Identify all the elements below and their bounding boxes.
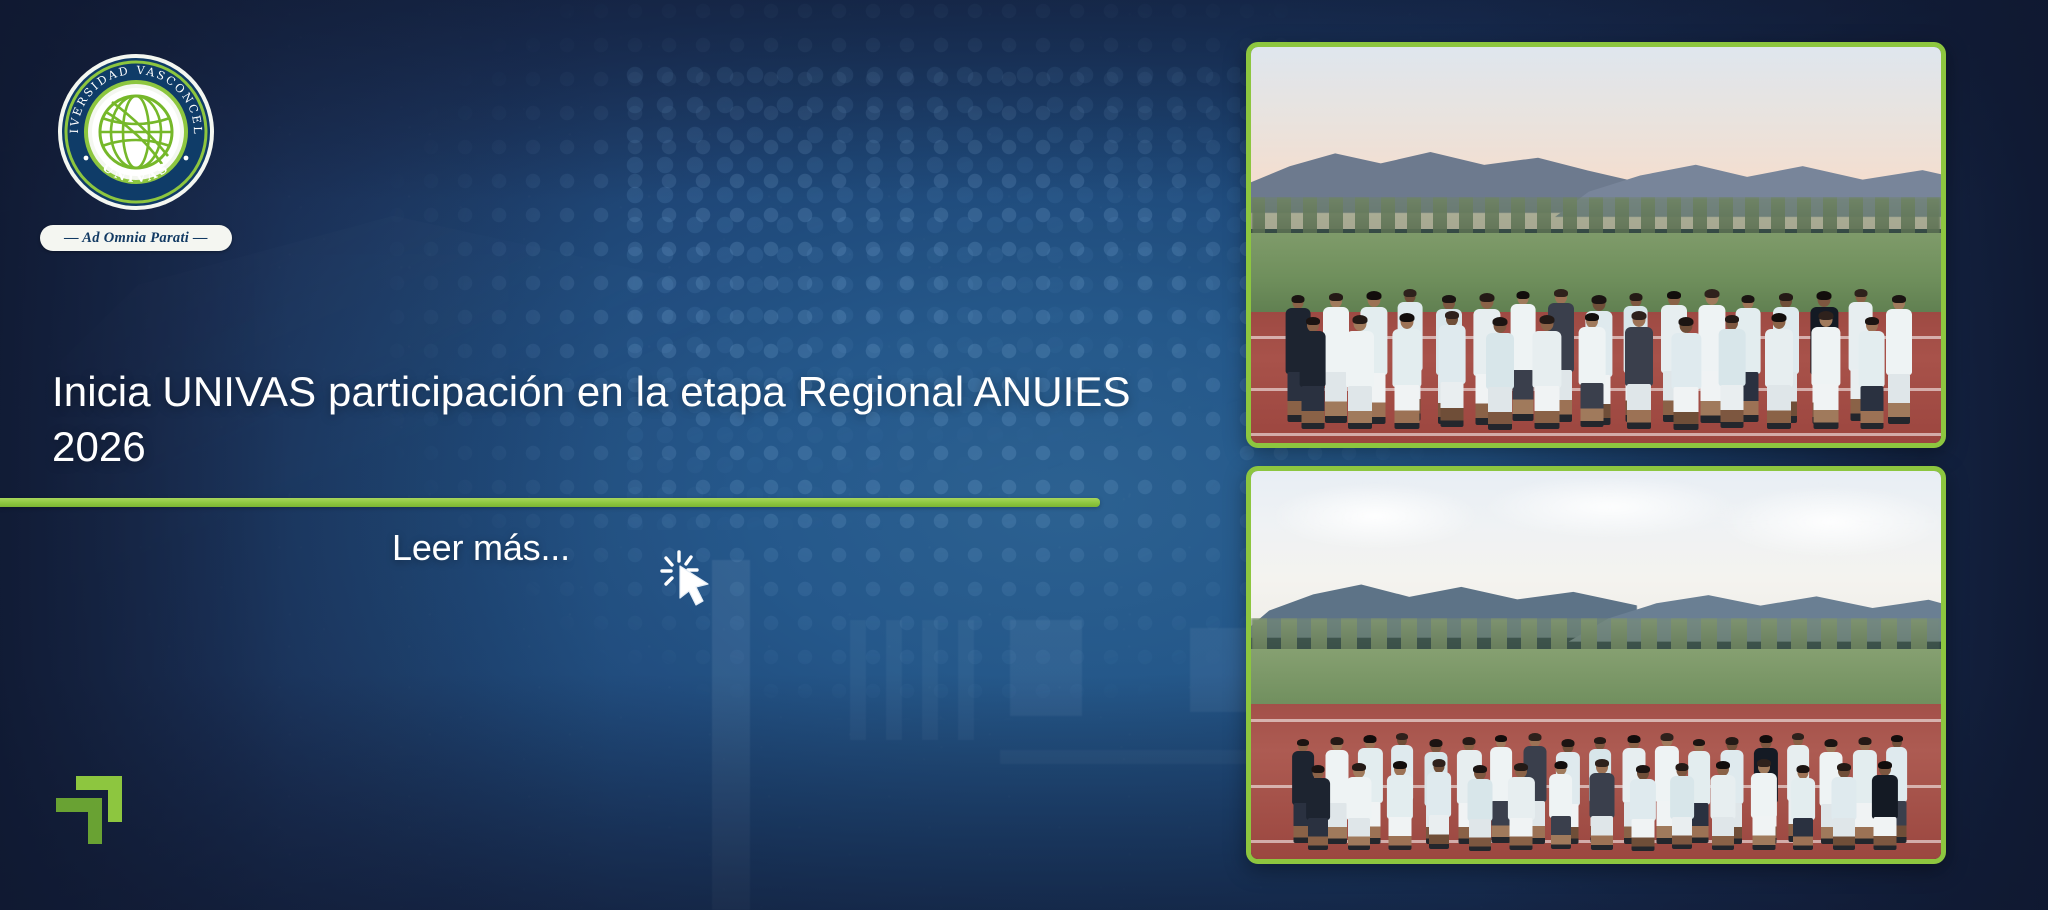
- person-hair: [1297, 739, 1309, 746]
- person-hair: [1329, 293, 1343, 301]
- person-hair: [1517, 291, 1530, 299]
- person-hair: [1797, 765, 1810, 773]
- person-torso: [1549, 774, 1573, 818]
- person-legs: [1814, 384, 1839, 429]
- team-photo-bottom[interactable]: [1246, 466, 1946, 864]
- person-silhouette: [1718, 316, 1745, 443]
- person-torso: [1672, 333, 1701, 389]
- person-legs: [1348, 386, 1372, 429]
- person-torso: [1670, 776, 1694, 819]
- hero-banner: UNIVERSIDAD VASCONCELOS UNIVAS — Ad Omni…: [0, 0, 2048, 910]
- person-hair: [1742, 295, 1755, 303]
- person-silhouette: [1791, 766, 1815, 859]
- person-hair: [1837, 763, 1851, 771]
- person-hair: [1352, 763, 1366, 771]
- logo-motto-ribbon: — Ad Omnia Parati —: [40, 225, 232, 251]
- person-hair: [1636, 765, 1650, 773]
- person-legs: [1874, 817, 1897, 850]
- person-hair: [1312, 765, 1325, 773]
- person-legs: [1581, 383, 1604, 427]
- person-torso: [1765, 329, 1793, 387]
- person-legs: [1752, 816, 1775, 850]
- person-torso: [1508, 777, 1534, 820]
- person-legs: [1534, 386, 1559, 429]
- person-silhouette: [1858, 318, 1885, 443]
- person-legs: [1888, 374, 1910, 424]
- person-legs: [1389, 817, 1412, 850]
- person-torso: [1630, 779, 1656, 821]
- person-hair: [1514, 763, 1528, 771]
- person-hair: [1760, 735, 1773, 743]
- person-hair: [1367, 291, 1382, 300]
- person-torso: [1306, 778, 1330, 820]
- person-legs: [1712, 817, 1734, 850]
- person-hair: [1479, 293, 1494, 302]
- person-hair: [1433, 759, 1446, 767]
- person-hair: [1661, 733, 1674, 741]
- person-torso: [1532, 331, 1561, 388]
- person-hair: [1396, 733, 1408, 740]
- person-silhouette: [1832, 764, 1857, 859]
- person-silhouette: [1630, 766, 1656, 859]
- person-torso: [1392, 329, 1421, 387]
- person-hair: [1585, 313, 1599, 321]
- team-photo-top[interactable]: [1246, 42, 1946, 448]
- person-silhouette: [1751, 760, 1777, 859]
- person-silhouette: [1346, 316, 1374, 443]
- person-hair: [1554, 761, 1567, 769]
- person-torso: [1718, 329, 1745, 386]
- click-cursor: [660, 548, 722, 610]
- person-hair: [1352, 315, 1367, 324]
- univas-seal-icon: UNIVERSIDAD VASCONCELOS UNIVAS: [56, 52, 216, 212]
- person-silhouette: [1427, 760, 1451, 859]
- person-legs: [1488, 387, 1512, 430]
- person-hair: [1693, 739, 1705, 746]
- person-legs: [1308, 818, 1328, 850]
- person-hair: [1473, 765, 1487, 773]
- person-legs: [1551, 816, 1571, 849]
- person-hair: [1528, 733, 1541, 741]
- person-silhouette: [1670, 764, 1694, 859]
- person-legs: [1429, 815, 1449, 849]
- person-torso: [1812, 327, 1841, 386]
- person-hair: [1627, 735, 1640, 743]
- person-hair: [1757, 759, 1771, 767]
- photo-bottom-clouds: [1251, 479, 1941, 572]
- person-hair: [1400, 313, 1415, 322]
- person-torso: [1468, 779, 1493, 821]
- person-legs: [1860, 386, 1883, 429]
- person-hair: [1675, 763, 1688, 771]
- person-torso: [1791, 778, 1815, 820]
- person-silhouette: [1392, 314, 1421, 443]
- person-legs: [1627, 384, 1651, 429]
- person-hair: [1429, 739, 1442, 747]
- person-hair: [1539, 315, 1554, 324]
- person-hair: [1726, 737, 1739, 745]
- person-legs: [1767, 385, 1791, 429]
- person-torso: [1299, 331, 1326, 387]
- person-torso: [1346, 331, 1374, 388]
- person-silhouette: [1886, 296, 1912, 443]
- person-silhouette: [1549, 762, 1573, 859]
- person-hair: [1404, 289, 1417, 297]
- person-silhouette: [1812, 312, 1841, 443]
- person-legs: [1591, 816, 1613, 850]
- person-torso: [1751, 773, 1777, 818]
- green-corner-bracket: [50, 770, 130, 850]
- person-hair: [1825, 739, 1838, 747]
- accent-divider-line: [0, 498, 1100, 507]
- person-torso: [1710, 775, 1735, 819]
- photo-bottom-field: [1251, 649, 1941, 711]
- person-torso: [1886, 309, 1912, 375]
- person-hair: [1792, 733, 1804, 740]
- person-hair: [1554, 289, 1568, 297]
- person-silhouette: [1486, 318, 1514, 443]
- person-torso: [1858, 331, 1885, 387]
- person-hair: [1716, 761, 1730, 769]
- person-silhouette: [1347, 764, 1372, 859]
- person-silhouette: [1387, 762, 1413, 859]
- person-silhouette: [1468, 766, 1493, 859]
- person-torso: [1832, 777, 1857, 820]
- person-legs: [1793, 818, 1813, 850]
- person-hair: [1364, 735, 1377, 743]
- person-hair: [1679, 317, 1694, 326]
- person-legs: [1325, 372, 1347, 423]
- click-cursor-icon: [660, 548, 722, 610]
- person-hair: [1495, 735, 1507, 742]
- person-torso: [1589, 773, 1614, 818]
- person-hair: [1892, 295, 1906, 303]
- person-hair: [1858, 737, 1871, 745]
- person-torso: [1579, 327, 1606, 385]
- person-torso: [1387, 775, 1413, 819]
- photo-bottom-scene: [1251, 471, 1941, 859]
- person-hair: [1445, 311, 1459, 319]
- leer-mas-link[interactable]: Leer más...: [392, 527, 570, 569]
- person-legs: [1674, 387, 1699, 430]
- person-hair: [1629, 293, 1642, 301]
- person-hair: [1632, 311, 1647, 320]
- person-torso: [1427, 772, 1451, 817]
- person-silhouette: [1306, 766, 1330, 859]
- lane-line: [1251, 719, 1941, 722]
- person-silhouette: [1589, 760, 1614, 859]
- person-legs: [1513, 370, 1534, 421]
- person-legs: [1469, 819, 1491, 851]
- banner-headline: Inicia UNIVAS participación en la etapa …: [52, 365, 1172, 474]
- person-legs: [1833, 818, 1855, 850]
- person-hair: [1779, 293, 1793, 301]
- person-silhouette: [1672, 318, 1701, 443]
- person-silhouette: [1872, 762, 1898, 859]
- person-silhouette: [1508, 764, 1534, 859]
- person-legs: [1301, 386, 1324, 429]
- person-silhouette: [1765, 314, 1793, 443]
- person-torso: [1486, 333, 1514, 389]
- person-torso: [1439, 325, 1466, 384]
- person-hair: [1442, 295, 1456, 303]
- person-legs: [1510, 818, 1533, 850]
- person-hair: [1594, 737, 1606, 744]
- person-torso: [1872, 775, 1898, 819]
- logo-motto-text: — Ad Omnia Parati —: [64, 230, 208, 247]
- person-hair: [1291, 295, 1304, 303]
- person-hair: [1562, 739, 1575, 747]
- person-legs: [1631, 819, 1654, 851]
- person-hair: [1595, 759, 1609, 767]
- person-hair: [1772, 313, 1787, 322]
- person-hair: [1817, 291, 1832, 300]
- person-silhouette: [1439, 312, 1466, 443]
- person-silhouette: [1532, 316, 1561, 443]
- photo-top-scene: [1251, 47, 1941, 443]
- person-legs: [1441, 382, 1464, 427]
- person-hair: [1891, 735, 1903, 742]
- person-hair: [1330, 737, 1343, 745]
- person-hair: [1854, 289, 1867, 297]
- person-legs: [1395, 385, 1420, 429]
- person-legs: [1672, 817, 1692, 849]
- person-silhouette: [1710, 762, 1735, 859]
- person-hair: [1667, 291, 1681, 299]
- person-hair: [1393, 761, 1407, 769]
- person-hair: [1463, 737, 1476, 745]
- person-silhouette: [1625, 312, 1653, 443]
- person-hair: [1592, 295, 1607, 304]
- person-torso: [1347, 777, 1372, 820]
- univas-logo[interactable]: UNIVERSIDAD VASCONCELOS UNIVAS: [56, 52, 216, 212]
- person-hair: [1492, 317, 1507, 326]
- person-hair: [1704, 289, 1719, 298]
- person-hair: [1878, 761, 1892, 769]
- person-torso: [1625, 327, 1653, 386]
- person-hair: [1725, 315, 1739, 323]
- person-legs: [1348, 818, 1370, 850]
- corner-bracket-icon: [50, 770, 130, 850]
- person-hair: [1865, 317, 1879, 325]
- person-legs: [1720, 385, 1743, 428]
- person-silhouette: [1579, 314, 1606, 443]
- person-silhouette: [1299, 318, 1326, 443]
- person-hair: [1306, 317, 1320, 325]
- person-hair: [1819, 311, 1834, 320]
